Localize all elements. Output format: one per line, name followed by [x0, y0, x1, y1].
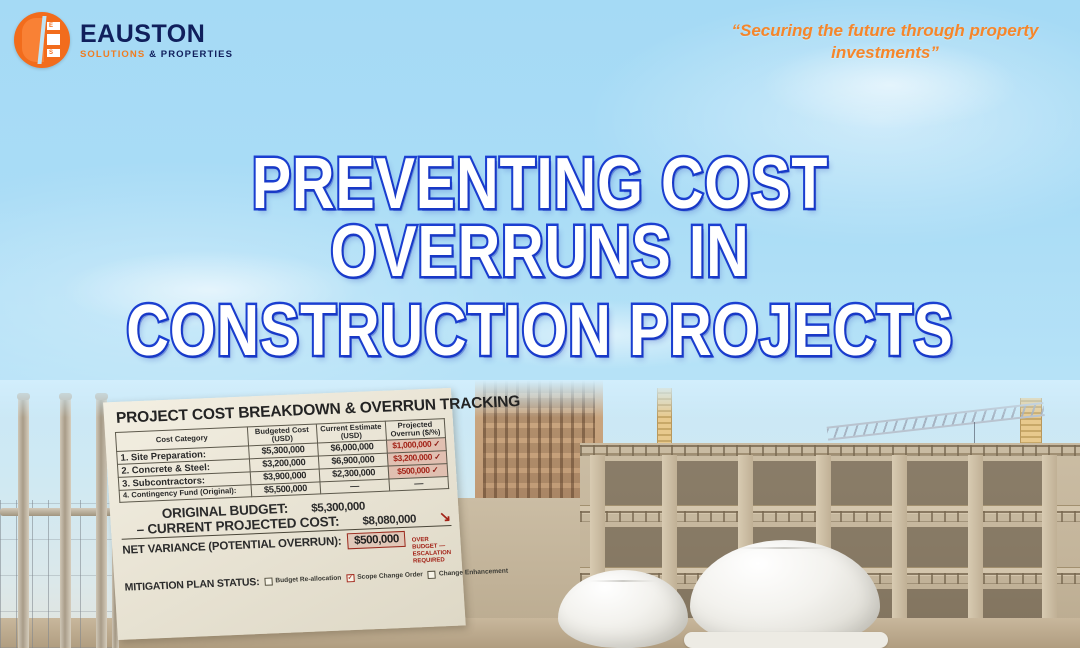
- page-title-line-2: CONSTRUCTION PROJECTS: [97, 297, 983, 365]
- column-header-overrun: Projected Overrun ($/%): [385, 419, 445, 440]
- check-mark-icon: ✓: [431, 465, 438, 475]
- summary-value: $8,080,000: [345, 513, 434, 529]
- checkbox-icon[interactable]: [428, 570, 436, 578]
- mitigation-option[interactable]: Budget Re-allocation: [264, 574, 341, 585]
- white-hard-hat: [690, 533, 880, 648]
- page-header: E S EAUSTON SOLUTIONS & PROPERTIES “Secu…: [0, 0, 1080, 90]
- brand-name: EAUSTON: [80, 22, 233, 47]
- mitigation-option[interactable]: ✓ Scope Change Order: [346, 571, 423, 582]
- variance-note: OVER BUDGET — ESCALATION REQUIRED: [412, 536, 454, 565]
- poster-canvas: E S EAUSTON SOLUTIONS & PROPERTIES “Secu…: [0, 0, 1080, 648]
- mitigation-option-label: Scope Change Order: [357, 571, 423, 581]
- brand-subtitle: SOLUTIONS & PROPERTIES: [80, 50, 233, 60]
- check-mark-icon: ✓: [433, 439, 440, 449]
- white-hard-hat: [558, 570, 688, 648]
- variance-label: NET VARIANCE (POTENTIAL OVERRUN):: [122, 536, 342, 557]
- down-arrow-icon: ↘: [439, 509, 452, 523]
- cell-overrun: —: [389, 476, 449, 491]
- mitigation-option-label: Budget Re-allocation: [275, 575, 341, 585]
- cost-breakdown-table: Cost Category Budgeted Cost (USD) Curren…: [115, 418, 449, 503]
- project-cost-sign: PROJECT COST BREAKDOWN & OVERRUN TRACKIN…: [103, 388, 466, 640]
- cell-estimate: —: [320, 479, 390, 495]
- brand-subtitle-orange: SOLUTIONS: [80, 49, 145, 60]
- variance-value: $500,000: [347, 531, 406, 549]
- eauston-circle-logo-icon: E S: [14, 12, 70, 68]
- check-mark-icon: ✓: [434, 452, 441, 462]
- brand-logo[interactable]: E S EAUSTON SOLUTIONS & PROPERTIES: [14, 12, 233, 68]
- checkbox-icon[interactable]: [264, 577, 272, 585]
- page-title-line-1: PREVENTING COST OVERRUNS IN: [97, 150, 983, 287]
- mitigation-label: MITIGATION PLAN STATUS:: [124, 576, 259, 594]
- sign-summary: ORIGINAL BUDGET: $5,300,000 . – CURRENT …: [120, 494, 454, 577]
- page-title: PREVENTING COST OVERRUNS IN CONSTRUCTION…: [0, 150, 1080, 365]
- brand-tagline: “Securing the future through property in…: [720, 20, 1050, 64]
- checkbox-icon[interactable]: ✓: [346, 574, 354, 582]
- cell-budget: $5,500,000: [251, 482, 321, 498]
- brand-subtitle-navy: & PROPERTIES: [149, 49, 233, 60]
